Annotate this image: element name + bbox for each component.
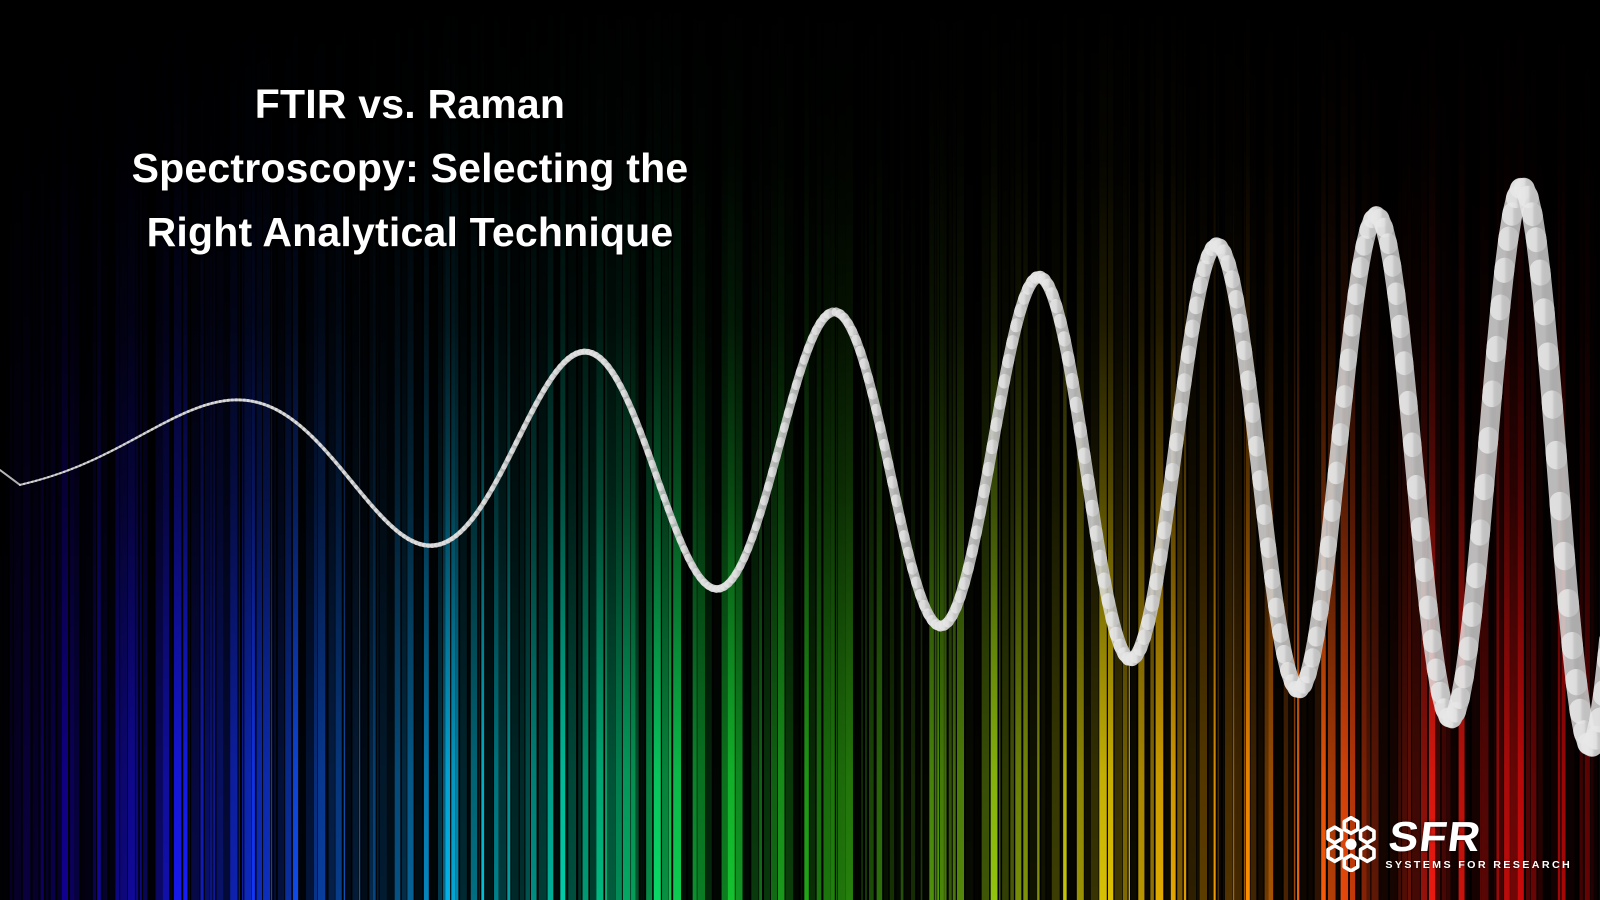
- logo-name: SFR: [1386, 817, 1585, 857]
- hexagon-flower-icon: [1323, 816, 1379, 872]
- slide-title: FTIR vs. Raman Spectroscopy: Selecting t…: [30, 72, 790, 264]
- sfr-logo[interactable]: SFR SYSTEMS FOR RESEARCH: [1323, 816, 1572, 872]
- title-line-1: FTIR vs. Raman: [30, 72, 790, 136]
- logo-wordmark: SFR SYSTEMS FOR RESEARCH: [1389, 817, 1572, 872]
- slide-canvas: FTIR vs. Raman Spectroscopy: Selecting t…: [0, 0, 1600, 900]
- title-line-3: Right Analytical Technique: [30, 200, 790, 264]
- title-line-2: Spectroscopy: Selecting the: [30, 136, 790, 200]
- logo-tagline: SYSTEMS FOR RESEARCH: [1385, 858, 1572, 872]
